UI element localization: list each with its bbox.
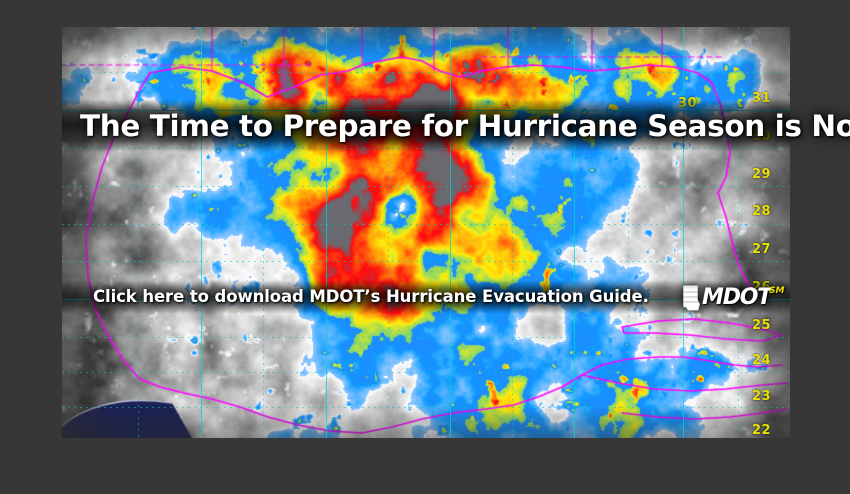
mississippi-state-shape-icon [679,285,701,311]
latitude-label: 23 [752,389,771,404]
latitude-label: 25 [752,318,771,333]
hurricane-preparedness-banner: 3130292827262524232230 The Time to Prepa… [0,0,850,494]
latitude-label: 22 [752,423,771,438]
satellite-image: 3130292827262524232230 [62,27,790,438]
satellite-imagery-canvas [62,27,790,438]
page-title: The Time to Prepare for Hurricane Season… [80,106,792,146]
latitude-label: 27 [752,242,771,257]
latitude-label: 28 [752,204,771,219]
latitude-label: 31 [752,91,771,106]
latitude-label: 29 [752,167,771,182]
mdot-service-mark: SM [769,286,784,296]
download-evacuation-guide-link[interactable]: Click here to download MDOT’s Hurricane … [93,287,649,306]
latitude-label: 24 [752,353,771,368]
mdot-logo[interactable]: MDOT SM [679,283,785,313]
mdot-wordmark: MDOT [702,287,771,309]
